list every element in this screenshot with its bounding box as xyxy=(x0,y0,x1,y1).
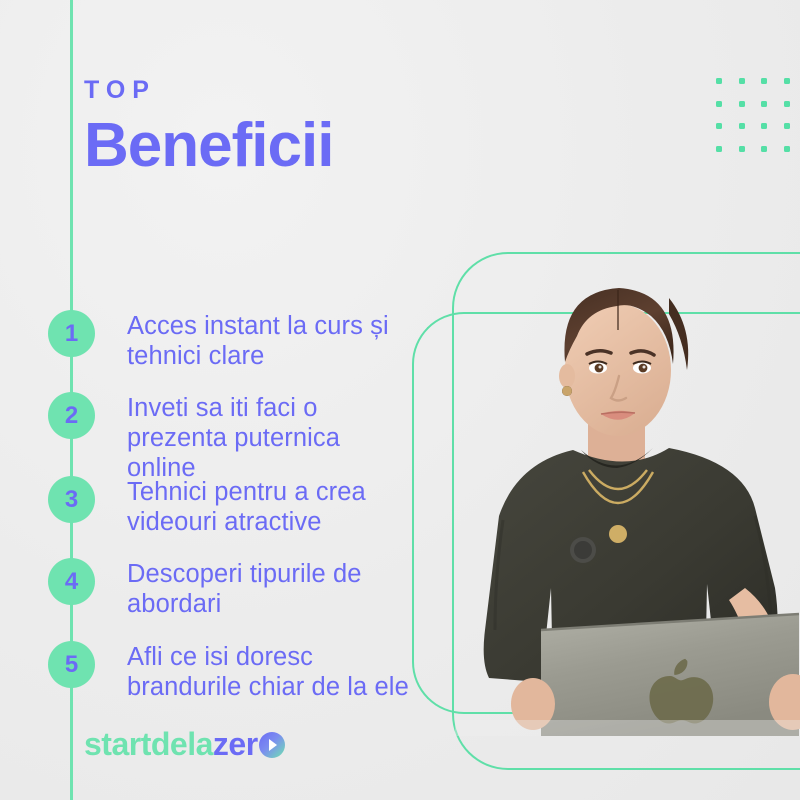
page-title: Beneficii xyxy=(84,113,333,178)
benefit-number-badge: 2 xyxy=(48,392,95,439)
grid-dot xyxy=(716,146,722,152)
eyebrow-label: TOP xyxy=(84,78,333,103)
benefit-item: 3Tehnici pentru a crea videouri atractiv… xyxy=(48,476,366,538)
grid-dot xyxy=(784,146,790,152)
benefit-text: Tehnici pentru a crea videouri atractive xyxy=(127,476,366,538)
grid-dot xyxy=(739,146,745,152)
benefit-item: 5Afli ce isi doresc brandurile chiar de … xyxy=(48,641,409,703)
benefit-number-badge: 4 xyxy=(48,558,95,605)
grid-dot xyxy=(761,146,767,152)
grid-dot xyxy=(739,123,745,129)
grid-dot xyxy=(761,101,767,107)
grid-dot xyxy=(784,123,790,129)
logo-text-zero: zer xyxy=(213,726,258,763)
play-circle-icon xyxy=(259,732,285,758)
grid-dot xyxy=(784,78,790,84)
dot-grid-decoration xyxy=(716,78,800,168)
grid-dot xyxy=(716,101,722,107)
benefit-item: 4Descoperi tipurile de abordari xyxy=(48,558,362,620)
benefit-text: Afli ce isi doresc brandurile chiar de l… xyxy=(127,641,409,703)
grid-dot xyxy=(761,78,767,84)
benefit-text: Acces instant la curs și tehnici clare xyxy=(127,310,389,372)
benefit-text: Inveti sa iti faci o prezenta puternica … xyxy=(127,392,340,483)
grid-dot xyxy=(716,123,722,129)
logo-text-start: startdela xyxy=(84,726,213,763)
benefit-item: 1Acces instant la curs și tehnici clare xyxy=(48,310,389,372)
page-title-block: TOP Beneficii xyxy=(84,78,333,178)
benefit-number-badge: 1 xyxy=(48,310,95,357)
presenter-photo xyxy=(455,258,800,736)
grid-dot xyxy=(739,101,745,107)
promo-graphic: TOP Beneficii 1Acces instant la curs și … xyxy=(0,0,800,800)
brand-logo[interactable]: startdela zer xyxy=(84,726,285,763)
benefit-item: 2Inveti sa iti faci o prezenta puternica… xyxy=(48,392,340,483)
grid-dot xyxy=(784,101,790,107)
grid-dot xyxy=(716,78,722,84)
benefit-number-badge: 3 xyxy=(48,476,95,523)
grid-dot xyxy=(739,78,745,84)
grid-dot xyxy=(761,123,767,129)
benefit-number-badge: 5 xyxy=(48,641,95,688)
benefit-text: Descoperi tipurile de abordari xyxy=(127,558,362,620)
